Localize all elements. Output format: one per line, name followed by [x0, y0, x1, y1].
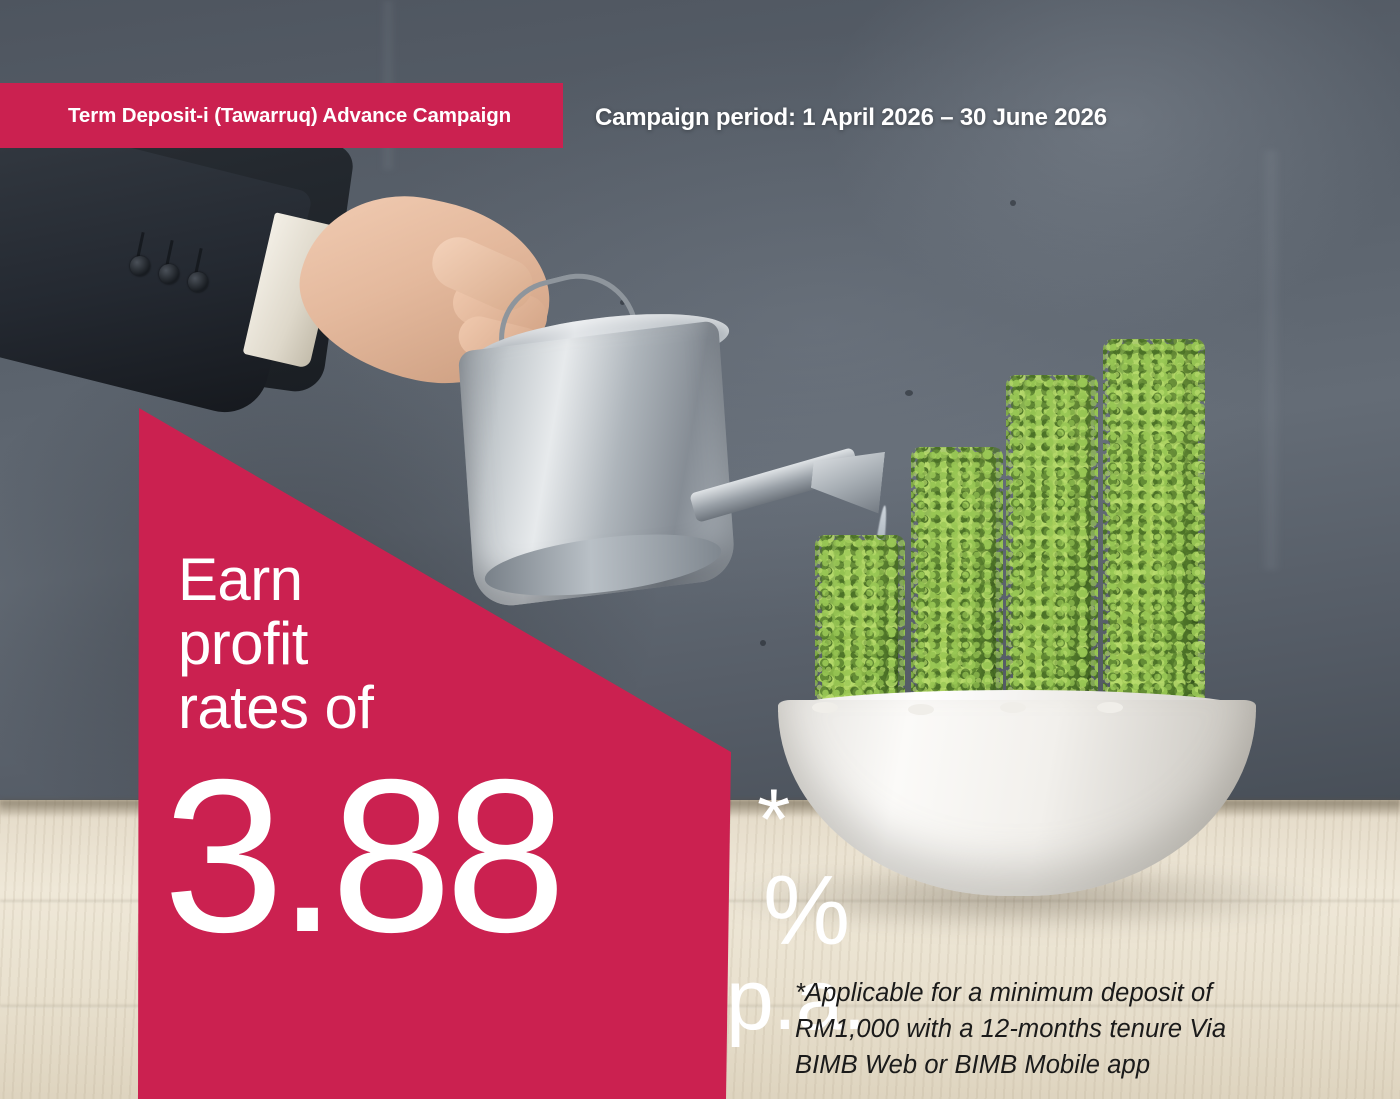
soil-pebble	[812, 702, 838, 713]
wall-speck	[1010, 200, 1016, 206]
rate-block: 3.88 * % p.a.	[163, 765, 559, 948]
campaign-tab-label: Term Deposit-i (Tawarruq) Advance Campai…	[68, 104, 511, 128]
cuff-button	[130, 256, 150, 276]
footnote-line-1: *Applicable for a minimum deposit of	[795, 975, 1295, 1011]
rate-asterisk: *	[757, 777, 790, 863]
soil-pebble	[908, 704, 934, 715]
wall-streak	[1260, 150, 1282, 570]
campaign-tab: Term Deposit-i (Tawarruq) Advance Campai…	[0, 83, 563, 148]
footnote-line-2: RM1,000 with a 12-months tenure Via	[795, 1011, 1295, 1047]
topiary-column-3	[1013, 380, 1091, 714]
soil-pebble	[1000, 702, 1026, 713]
footnote-line-3: BIMB Web or BIMB Mobile app	[795, 1047, 1295, 1083]
topiary-column-2	[918, 452, 996, 714]
soil-pebble	[1097, 702, 1123, 713]
headline-line-2: profit	[178, 612, 608, 676]
rate-unit: %	[763, 861, 848, 959]
wall-speck	[905, 390, 913, 396]
topiary-column-1	[822, 540, 898, 712]
headline-line-1: Earn	[178, 548, 608, 612]
cuff-button	[159, 264, 179, 284]
cuff-button	[188, 272, 208, 292]
topiary-column-4	[1110, 344, 1198, 716]
offer-headline: Earn profit rates of	[178, 548, 608, 741]
promotional-banner: Term Deposit-i (Tawarruq) Advance Campai…	[0, 0, 1400, 1099]
headline-line-3: rates of	[178, 676, 608, 740]
footnote-text: *Applicable for a minimum deposit of RM1…	[795, 975, 1295, 1084]
wall-speck	[760, 640, 766, 646]
rate-value: 3.88	[163, 765, 559, 948]
campaign-period-text: Campaign period: 1 April 2026 – 30 June …	[595, 104, 1107, 132]
